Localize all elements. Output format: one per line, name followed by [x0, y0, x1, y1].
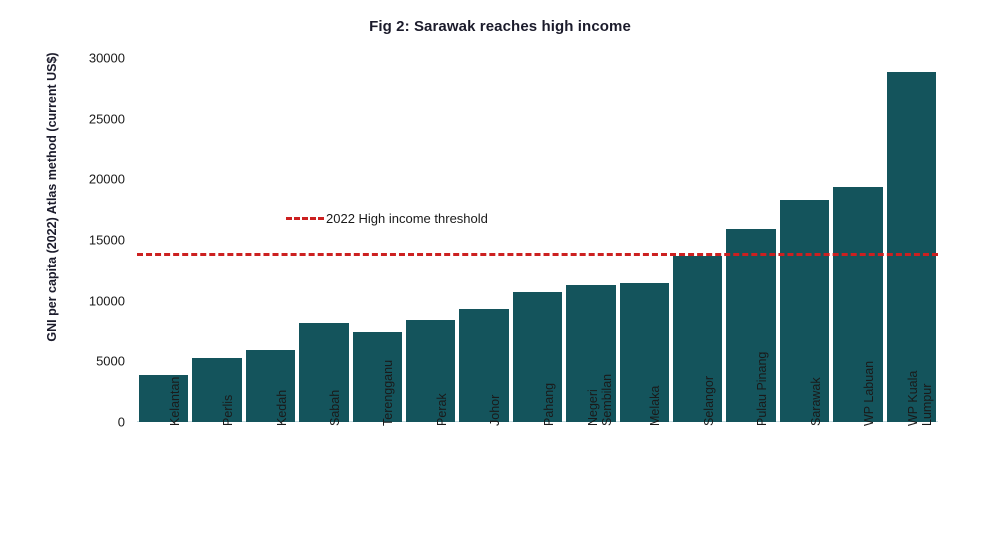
y-tick-label: 30000 [53, 51, 125, 66]
x-tick-label: Sarawak [805, 426, 858, 440]
x-tick-label: NegeriSembilan [591, 426, 638, 454]
x-tick-label-text: NegeriSembilan [586, 374, 614, 426]
threshold-legend: 2022 High income threshold [286, 211, 488, 226]
x-tick-label: Pahang [538, 426, 585, 440]
y-tick-label: 0 [53, 415, 125, 430]
x-tick-label-text: Pahang [542, 383, 556, 426]
y-tick-label: 20000 [53, 172, 125, 187]
x-tick-label-text: WP KualaLumpur [906, 371, 934, 426]
threshold-legend-dash-icon [286, 217, 324, 220]
plot-area [137, 58, 938, 422]
x-tick-label-text: Sabah [328, 390, 342, 426]
x-tick-label: Kedah [271, 426, 311, 440]
x-tick-label-text: Perlis [221, 395, 235, 426]
y-tick-label: 25000 [53, 111, 125, 126]
x-tick-label-text: Kelantan [168, 377, 182, 426]
x-tick-label: Melaka [644, 426, 688, 440]
x-tick-label-text: Perak [435, 393, 449, 426]
y-tick-label: 15000 [53, 233, 125, 248]
x-tick-label: Perlis [217, 426, 252, 440]
x-tick-label: Selangor [698, 426, 752, 440]
x-tick-label: Kelantan [164, 426, 217, 440]
y-tick-label: 5000 [53, 354, 125, 369]
chart-title: Fig 2: Sarawak reaches high income [0, 18, 1000, 35]
x-tick-label-text: Sarawak [809, 377, 823, 426]
y-tick-label: 10000 [53, 293, 125, 308]
x-tick-label: Sabah [324, 426, 364, 440]
chart-figure: Fig 2: Sarawak reaches high income GNI p… [0, 0, 1000, 556]
high-income-threshold-line [137, 253, 938, 256]
threshold-legend-label: 2022 High income threshold [326, 211, 488, 226]
x-tick-label: WP KualaLumpur [911, 426, 961, 454]
x-tick-label: Perak [431, 426, 468, 440]
x-tick-label-text: Pulau Pinang [755, 352, 769, 426]
x-tick-label-text: Melaka [648, 386, 662, 426]
bar[interactable] [887, 72, 936, 422]
x-tick-label-text: Kedah [275, 390, 289, 426]
x-tick-label-text: WP Labuan [862, 361, 876, 426]
x-axis-tick-labels: KelantanPerlisKedahSabahTerengganuPerakJ… [137, 426, 938, 556]
x-tick-label-text: Selangor [702, 376, 716, 426]
x-tick-label: Johor [484, 426, 519, 440]
y-axis-tick-labels: 050001000015000200002500030000 [53, 0, 125, 556]
x-tick-label-text: Terengganu [381, 360, 395, 426]
x-tick-label-text: Johor [488, 395, 502, 426]
